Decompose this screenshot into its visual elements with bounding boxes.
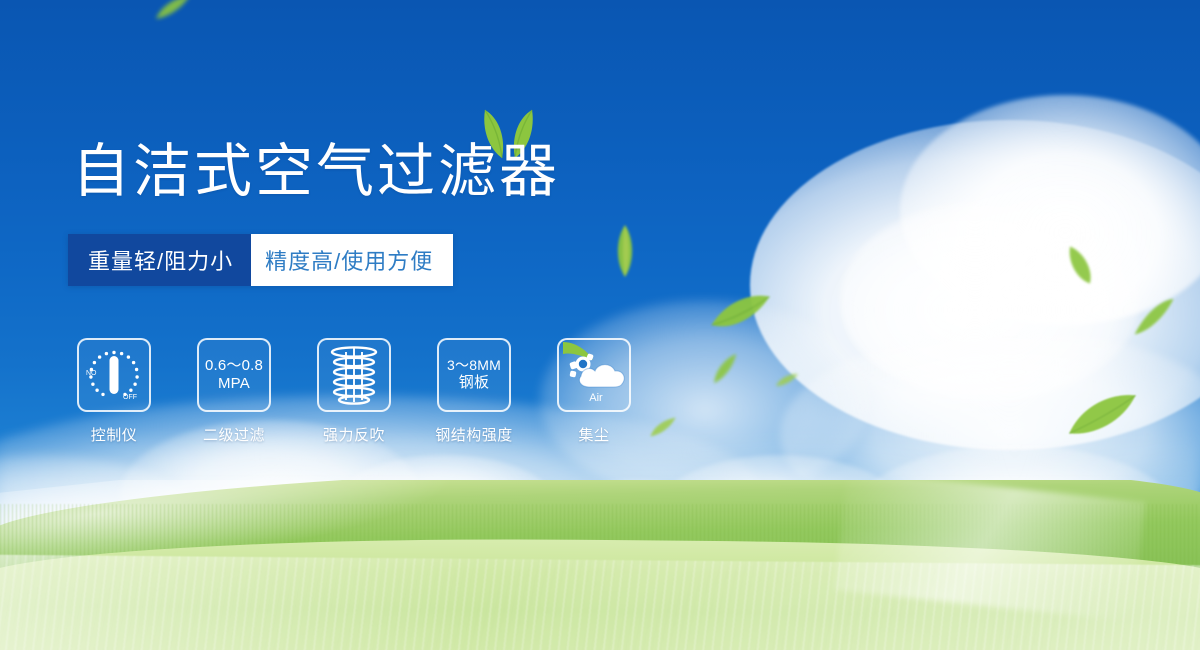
feature-label: 集尘 [578, 424, 609, 445]
feature-label: 钢结构强度 [435, 424, 513, 445]
grass-field [0, 480, 1200, 650]
feature-item-dust-collection[interactable]: Air 集尘 [556, 338, 632, 445]
tagline-badge: 重量轻/阻力小 精度高/使用方便 [68, 234, 453, 286]
feature-label: 强力反吹 [323, 424, 385, 445]
feature-item-blowback[interactable]: 强力反吹 [316, 338, 392, 445]
pressure-unit: MPA [205, 375, 263, 393]
feature-item-pressure[interactable]: 0.6〜0.8 MPA 二级过滤 [196, 338, 272, 445]
tagline-right-segment: 精度高/使用方便 [235, 234, 453, 286]
feature-item-control-dial[interactable]: NO OFF 控制仪 [76, 338, 152, 445]
feature-label: 控制仪 [91, 424, 138, 445]
steel-material: 钢板 [447, 374, 501, 392]
air-label: Air [589, 392, 603, 404]
air-cloud-icon: Air [561, 340, 631, 406]
feature-item-steel-plate[interactable]: 3〜8MM 钢板 钢结构强度 [436, 338, 512, 445]
feature-icon-box: Air [557, 338, 631, 412]
dial-no-label: NO [86, 370, 97, 377]
feature-list: NO OFF 控制仪 0.6〜0.8 MPA 二级过滤 [76, 338, 632, 445]
feature-icon-box: 0.6〜0.8 MPA [197, 338, 271, 412]
product-banner: 自洁式空气过滤器 重量轻/阻力小 精度高/使用方便 [0, 0, 1200, 650]
pressure-value-icon: 0.6〜0.8 MPA [205, 357, 263, 394]
gauge-dial-icon: NO OFF [82, 343, 146, 407]
feature-icon-box: 3〜8MM 钢板 [437, 338, 511, 412]
steel-plate-icon: 3〜8MM 钢板 [447, 357, 501, 392]
dial-off-label: OFF [123, 394, 137, 401]
feature-icon-box: NO OFF [77, 338, 151, 412]
filter-coil-icon [327, 345, 381, 405]
steel-thickness: 3〜8MM [447, 357, 501, 374]
pressure-range: 0.6〜0.8 [205, 357, 263, 375]
tagline-left-segment: 重量轻/阻力小 [68, 234, 251, 286]
page-title: 自洁式空气过滤器 [72, 143, 560, 201]
feature-label: 二级过滤 [203, 424, 265, 445]
feature-icon-box [317, 338, 391, 412]
